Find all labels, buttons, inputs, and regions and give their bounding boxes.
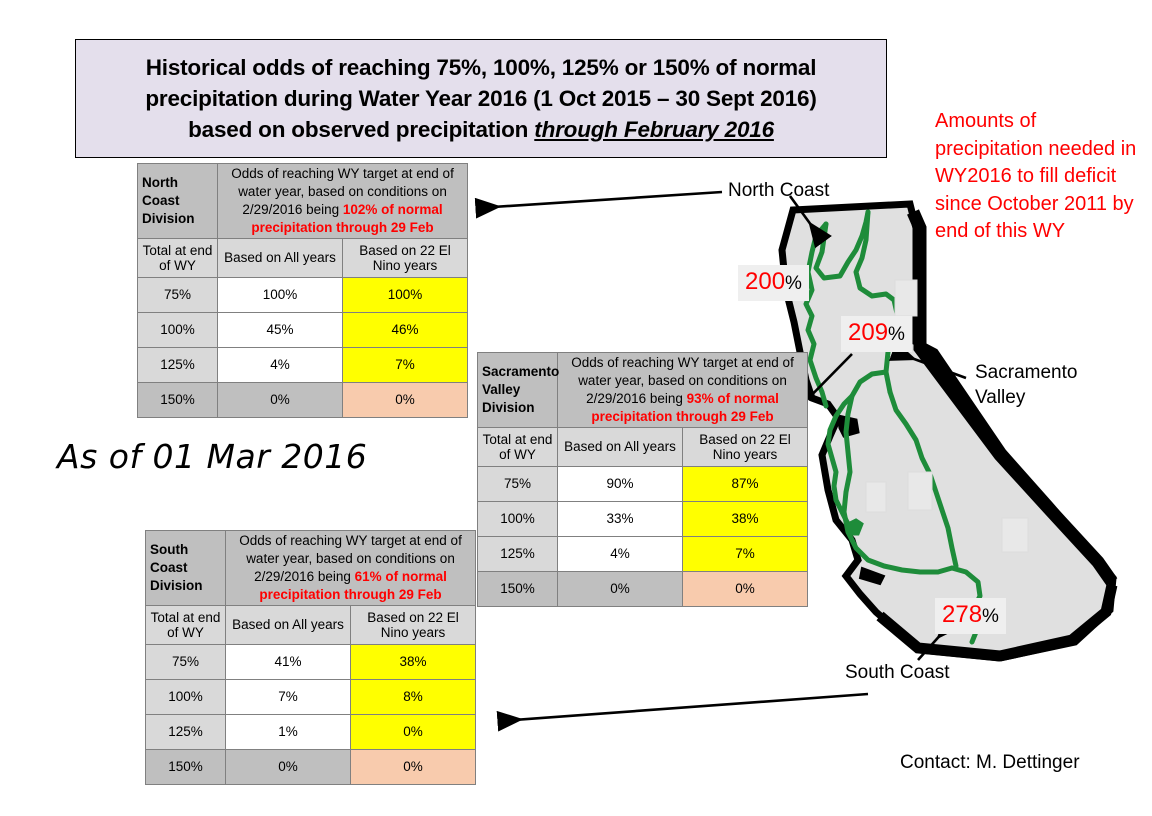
percent-symbol: % [785, 273, 802, 294]
table-row: 100% 7% 8% [146, 680, 476, 715]
column-header-el-nino: Based on 22 El Nino years [683, 428, 808, 467]
column-header-el-nino: Based on 22 El Nino years [351, 606, 476, 645]
caption-line-1: Odds of reaching WY target at end of [239, 533, 462, 548]
precipitation-deficit-note: Amounts of precipitation needed in WY201… [935, 108, 1145, 246]
title-line-1: Historical odds of reaching 75%, 100%, 1… [146, 55, 817, 80]
table-row: 125% 1% 0% [146, 715, 476, 750]
map-label-sacramento-valley: Sacramento Valley [975, 360, 1125, 410]
map-marker-3 [866, 482, 886, 512]
sacramento-valley-percent-callout: 209% [841, 316, 912, 352]
row-all-years: 1% [226, 715, 351, 750]
table-column-header-row: Total at end of WY Based on All years Ba… [146, 606, 476, 645]
table-row: 100% 33% 38% [478, 502, 808, 537]
table-row: 125% 4% 7% [138, 348, 468, 383]
column-header-all-years: Based on All years [226, 606, 351, 645]
row-el-nino: 87% [683, 467, 808, 502]
row-all-years: 33% [558, 502, 683, 537]
row-target: 150% [138, 383, 218, 418]
south-coast-table: South Coast Division Odds of reaching WY… [145, 530, 476, 785]
row-target: 125% [146, 715, 226, 750]
row-target: 100% [146, 680, 226, 715]
row-el-nino: 38% [351, 645, 476, 680]
table-column-header-row: Total at end of WY Based on All years Ba… [138, 239, 468, 278]
row-el-nino: 0% [343, 383, 468, 418]
division-line-sacramento-east [856, 212, 898, 392]
california-outline [782, 204, 1113, 658]
row-target: 150% [146, 750, 226, 785]
table-row: 75% 90% 87% [478, 467, 808, 502]
row-all-years: 45% [218, 313, 343, 348]
row-target: 125% [138, 348, 218, 383]
row-el-nino: 0% [351, 715, 476, 750]
row-el-nino: 38% [683, 502, 808, 537]
title-line-3-prefix: based on observed precipitation [188, 117, 534, 142]
division-caption-cell: Odds of reaching WY target at end of wat… [218, 164, 468, 239]
row-all-years: 0% [226, 750, 351, 785]
title-line-3-emphasis: through February 2016 [534, 117, 774, 142]
table-header-row: South Coast Division Odds of reaching WY… [146, 531, 476, 606]
division-name-cell: North Coast Division [138, 164, 218, 239]
column-header-target: Total at end of WY [478, 428, 558, 467]
caption-line-3a: 2/29/2016 being [242, 202, 343, 217]
north-coast-percent-callout: 200% [738, 265, 809, 301]
percent-symbol: % [982, 606, 999, 627]
row-target: 75% [146, 645, 226, 680]
column-header-all-years: Based on All years [218, 239, 343, 278]
caption-line-2: water year, based on conditions on [246, 551, 455, 566]
table-row: 100% 45% 46% [138, 313, 468, 348]
row-el-nino: 0% [351, 750, 476, 785]
division-caption-cell: Odds of reaching WY target at end of wat… [558, 353, 808, 428]
row-el-nino: 8% [351, 680, 476, 715]
row-all-years: 7% [226, 680, 351, 715]
title-line-2: precipitation during Water Year 2016 (1 … [145, 86, 816, 111]
row-target: 100% [138, 313, 218, 348]
division-line-bay-spur [848, 520, 862, 534]
division-name-cell: Sacramento Valley Division [478, 353, 558, 428]
caption-line-3a: 2/29/2016 being [254, 569, 355, 584]
division-caption-cell: Odds of reaching WY target at end of wat… [226, 531, 476, 606]
column-header-all-years: Based on All years [558, 428, 683, 467]
map-marker-2 [908, 472, 932, 510]
row-el-nino: 7% [343, 348, 468, 383]
table-row: 150% 0% 0% [138, 383, 468, 418]
south-coast-percent-value: 278 [942, 601, 982, 628]
san-francisco-bay-notch [838, 416, 858, 436]
caption-line-4: precipitation through 29 Feb [591, 409, 773, 424]
map-label-south-coast: South Coast [845, 660, 950, 685]
arrow-sacramento-to-map [895, 352, 966, 378]
map-marker-4 [1002, 518, 1028, 552]
table-column-header-row: Total at end of WY Based on All years Ba… [478, 428, 808, 467]
column-header-target: Total at end of WY [146, 606, 226, 645]
table-header-row: North Coast Division Odds of reaching WY… [138, 164, 468, 239]
page-title: Historical odds of reaching 75%, 100%, 1… [75, 39, 887, 158]
row-el-nino: 0% [683, 572, 808, 607]
table-row: 125% 4% 7% [478, 537, 808, 572]
division-line-san-joaquin-west [828, 396, 852, 524]
caption-line-4: precipitation through 29 Feb [251, 220, 433, 235]
division-line-sacramento-south [890, 392, 956, 566]
california-southeast-border [1000, 585, 1112, 656]
row-el-nino: 100% [343, 278, 468, 313]
row-all-years: 0% [218, 383, 343, 418]
as-of-date: As of 01 Mar 2016 [57, 437, 367, 476]
column-header-el-nino: Based on 22 El Nino years [343, 239, 468, 278]
caption-percent-highlight: 93% of normal [687, 391, 779, 406]
division-line-north-interior [816, 212, 868, 278]
row-target: 150% [478, 572, 558, 607]
arrow-north-coast-to-table [478, 192, 722, 208]
map-label-north-coast: North Coast [728, 178, 829, 203]
california-state-fill [782, 204, 1113, 658]
row-all-years: 0% [558, 572, 683, 607]
caption-line-1: Odds of reaching WY target at end of [571, 355, 794, 370]
north-coast-percent-value: 200 [745, 268, 785, 295]
row-all-years: 4% [218, 348, 343, 383]
table-row: 75% 41% 38% [146, 645, 476, 680]
row-all-years: 100% [218, 278, 343, 313]
row-el-nino: 7% [683, 537, 808, 572]
row-target: 100% [478, 502, 558, 537]
division-line-central-valley-west [844, 372, 952, 572]
row-target: 125% [478, 537, 558, 572]
caption-line-1: Odds of reaching WY target at end of [231, 166, 454, 181]
caption-line-2: water year, based on conditions on [238, 184, 447, 199]
south-coast-percent-callout: 278% [935, 598, 1006, 634]
row-target: 75% [478, 467, 558, 502]
row-all-years: 90% [558, 467, 683, 502]
sacramento-valley-table: Sacramento Valley Division Odds of reach… [477, 352, 808, 607]
table-header-row: Sacramento Valley Division Odds of reach… [478, 353, 808, 428]
caption-line-4: precipitation through 29 Feb [259, 587, 441, 602]
row-all-years: 41% [226, 645, 351, 680]
contact-line: Contact: M. Dettinger [900, 752, 1080, 774]
table-row: 150% 0% 0% [478, 572, 808, 607]
division-name-cell: South Coast Division [146, 531, 226, 606]
division-line-coastal-north [806, 224, 826, 406]
map-marker-1 [895, 280, 917, 316]
table-row: 150% 0% 0% [146, 750, 476, 785]
sacramento-valley-percent-value: 209 [848, 319, 888, 346]
arrow-south-coast-to-table [500, 694, 868, 721]
monterey-bay-notch [860, 568, 884, 584]
north-coast-table: North Coast Division Odds of reaching WY… [137, 163, 468, 418]
table-row: 75% 100% 100% [138, 278, 468, 313]
percent-symbol: % [888, 324, 905, 345]
caption-percent-highlight: 61% of normal [355, 569, 447, 584]
row-all-years: 4% [558, 537, 683, 572]
row-target: 75% [138, 278, 218, 313]
caption-percent-highlight: 102% of normal [343, 202, 443, 217]
caption-line-3a: 2/29/2016 being [586, 391, 687, 406]
row-el-nino: 46% [343, 313, 468, 348]
column-header-target: Total at end of WY [138, 239, 218, 278]
caption-line-2: water year, based on conditions on [578, 373, 787, 388]
